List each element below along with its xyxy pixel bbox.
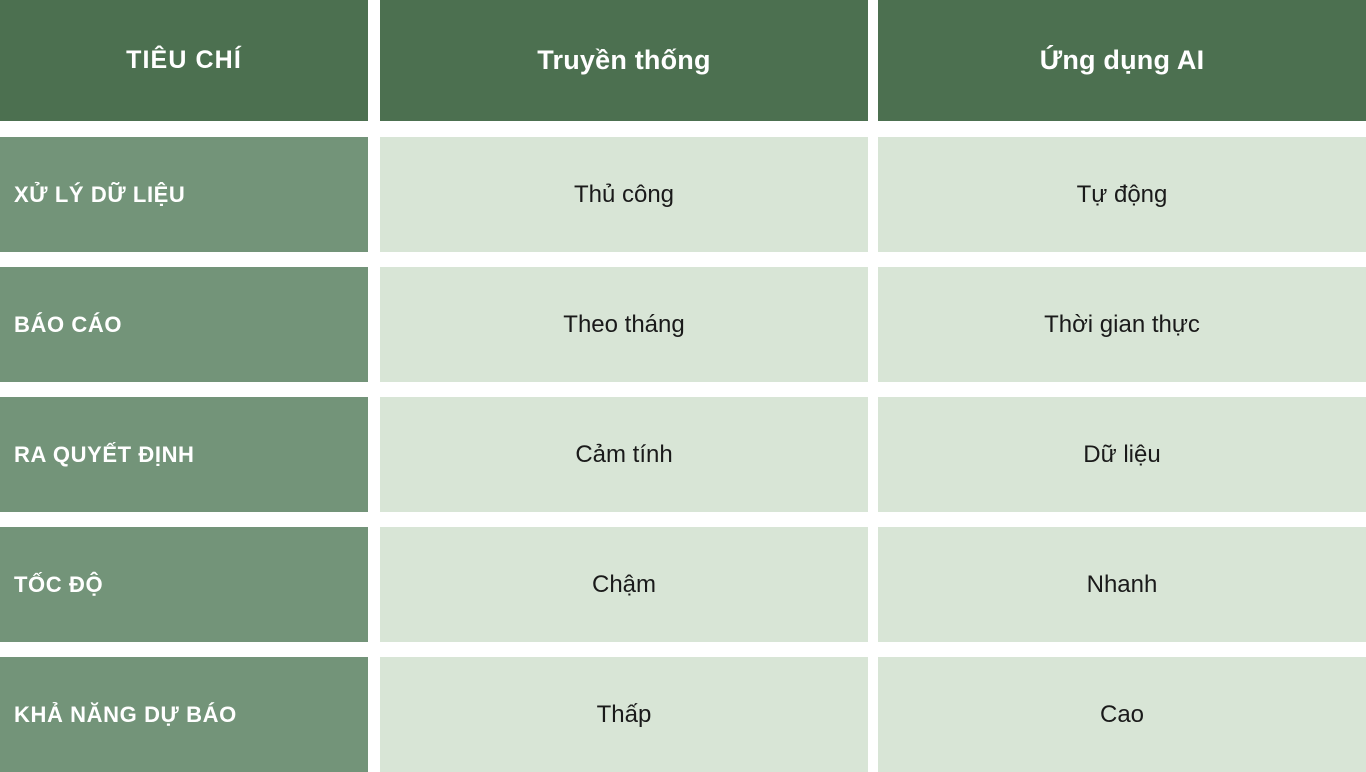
row-criteria-label: BÁO CÁO <box>14 312 122 338</box>
row-criteria-cell: XỬ LÝ DỮ LIỆU <box>0 137 368 252</box>
table-header-row: TIÊU CHÍ Truyền thống Ứng dụng AI <box>0 0 1366 121</box>
table-row: XỬ LÝ DỮ LIỆU Thủ công Tự động <box>0 137 1366 252</box>
row-traditional-value: Chậm <box>592 571 656 599</box>
table-row: BÁO CÁO Theo tháng Thời gian thực <box>0 267 1366 382</box>
row-traditional-value: Thấp <box>597 701 652 729</box>
row-traditional-cell: Theo tháng <box>380 267 868 382</box>
row-traditional-value: Cảm tính <box>575 441 672 469</box>
row-ai-cell: Thời gian thực <box>878 267 1366 382</box>
row-criteria-cell: TỐC ĐỘ <box>0 527 368 642</box>
row-ai-cell: Nhanh <box>878 527 1366 642</box>
comparison-table: TIÊU CHÍ Truyền thống Ứng dụng AI XỬ LÝ … <box>0 0 1366 768</box>
row-criteria-label: KHẢ NĂNG DỰ BÁO <box>14 702 237 728</box>
row-ai-cell: Cao <box>878 657 1366 772</box>
row-ai-value: Nhanh <box>1087 571 1158 599</box>
row-criteria-label: XỬ LÝ DỮ LIỆU <box>14 182 185 208</box>
row-ai-value: Dữ liệu <box>1083 441 1160 469</box>
row-traditional-value: Theo tháng <box>563 311 684 339</box>
row-criteria-cell: KHẢ NĂNG DỰ BÁO <box>0 657 368 772</box>
table-row: RA QUYẾT ĐỊNH Cảm tính Dữ liệu <box>0 397 1366 512</box>
column-header-ai: Ứng dụng AI <box>878 0 1366 121</box>
table-row: TỐC ĐỘ Chậm Nhanh <box>0 527 1366 642</box>
row-traditional-cell: Thấp <box>380 657 868 772</box>
row-traditional-value: Thủ công <box>574 181 674 209</box>
row-criteria-label: TỐC ĐỘ <box>14 572 103 598</box>
row-ai-value: Tự động <box>1077 181 1168 209</box>
column-header-criteria: TIÊU CHÍ <box>0 0 368 121</box>
column-header-criteria-label: TIÊU CHÍ <box>126 46 242 75</box>
row-traditional-cell: Thủ công <box>380 137 868 252</box>
row-ai-cell: Dữ liệu <box>878 397 1366 512</box>
row-traditional-cell: Chậm <box>380 527 868 642</box>
row-ai-value: Thời gian thực <box>1044 311 1200 339</box>
row-ai-cell: Tự động <box>878 137 1366 252</box>
row-traditional-cell: Cảm tính <box>380 397 868 512</box>
row-ai-value: Cao <box>1100 701 1144 729</box>
row-criteria-cell: BÁO CÁO <box>0 267 368 382</box>
row-criteria-cell: RA QUYẾT ĐỊNH <box>0 397 368 512</box>
column-header-ai-label: Ứng dụng AI <box>1040 45 1205 76</box>
column-header-traditional: Truyền thống <box>380 0 868 121</box>
table-row: KHẢ NĂNG DỰ BÁO Thấp Cao <box>0 657 1366 772</box>
row-criteria-label: RA QUYẾT ĐỊNH <box>14 442 195 468</box>
column-header-traditional-label: Truyền thống <box>537 45 710 76</box>
